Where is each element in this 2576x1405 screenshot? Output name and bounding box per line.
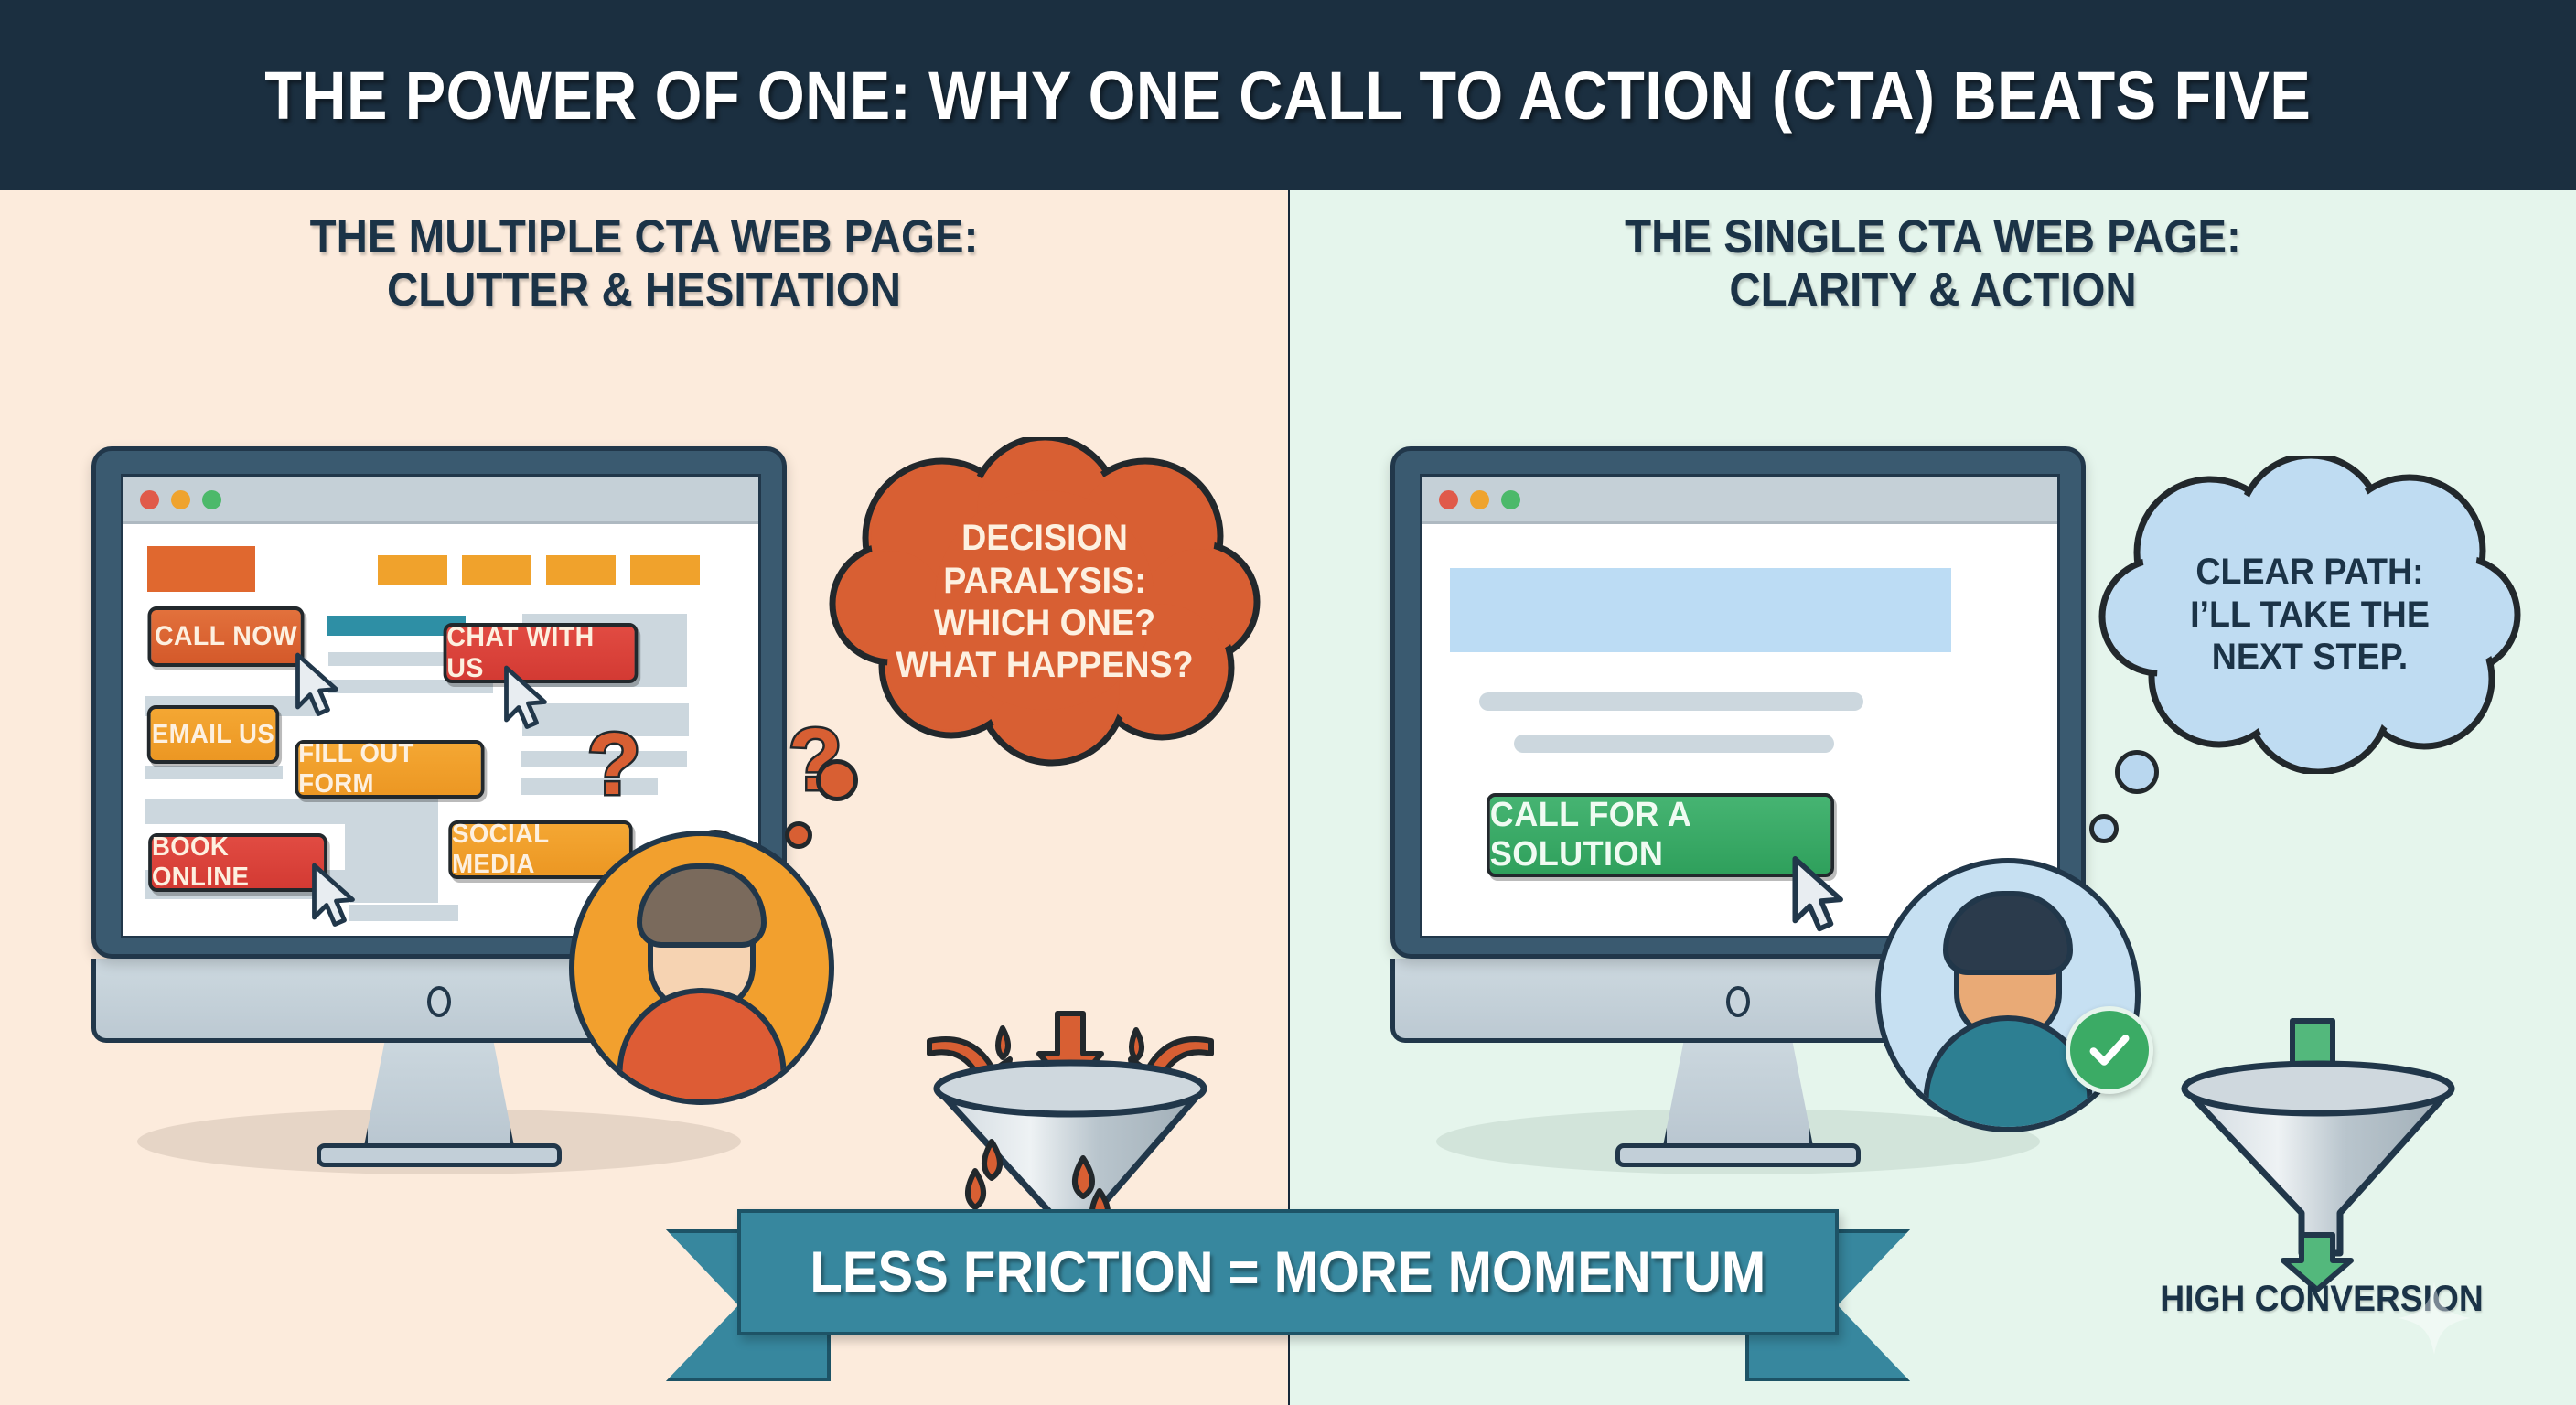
confused-user-avatar (569, 831, 834, 1105)
cta-call-for-a-solution-label: CALL FOR A SOLUTION (1490, 796, 1830, 874)
yellow-dot[interactable] (171, 490, 190, 509)
ribbon-text: LESS FRICTION = MORE MOMENTUM (810, 1239, 1766, 1305)
content-block-left (145, 799, 376, 824)
left-panel-heading: THE MULTIPLE CTA WEB PAGE: CLUTTER & HES… (45, 210, 1242, 316)
browser-traffic-lights (140, 490, 221, 509)
bottom-ribbon: LESS FRICTION = MORE MOMENTUM (0, 1200, 2576, 1405)
nav-item-2[interactable] (462, 555, 531, 585)
site-logo-block (147, 546, 255, 592)
cta-fill-out-form[interactable]: FILL OUT FORM (295, 740, 484, 799)
content-line-7 (350, 883, 438, 903)
content-line-1 (1479, 692, 1863, 711)
right-heading-line-1: THE SINGLE CTA WEB PAGE: (1335, 210, 2531, 263)
question-mark-icon-1: ? (587, 721, 641, 809)
check-badge (2066, 1006, 2153, 1094)
monitor-neck (1662, 1043, 1814, 1151)
left-thought-bubble: DECISION PARALYSIS: WHICH ONE? WHAT HAPP… (825, 437, 1264, 767)
cta-call-now[interactable]: CALL NOW (148, 606, 305, 667)
browser-chrome-bar (123, 477, 758, 524)
check-icon (2084, 1024, 2135, 1076)
cta-email-us-label: EMAIL US (152, 720, 274, 750)
hero-banner-block (1450, 568, 1951, 652)
avatar-background-circle (569, 831, 834, 1105)
monitor-neck (363, 1043, 515, 1151)
left-heading-line-1: THE MULTIPLE CTA WEB PAGE: (45, 210, 1242, 263)
thought-dot-small (785, 821, 812, 849)
right-thought-bubble: CLEAR PATH: I’LL TAKE THE NEXT STEP. (2095, 456, 2525, 774)
avatar-hair (1943, 891, 2073, 975)
nav-item-4[interactable] (630, 555, 700, 585)
yellow-dot[interactable] (1470, 490, 1489, 509)
avatar-hair (637, 863, 767, 948)
confident-user-avatar (1875, 858, 2141, 1132)
browser-chrome-bar (1422, 477, 2057, 524)
cta-book-online-label: BOOK ONLINE (152, 832, 324, 893)
monitor-foot (1615, 1143, 1861, 1167)
content-line-6 (145, 766, 283, 779)
content-line-2 (1514, 735, 1834, 753)
green-dot[interactable] (1501, 490, 1520, 509)
avatar-shoulders (1924, 1015, 2093, 1132)
bubble-line-3: NEXT STEP. (2212, 636, 2409, 678)
bubble-line-1: DECISION (961, 517, 1128, 559)
monitor-camera-dot (427, 986, 451, 1017)
red-dot[interactable] (1439, 490, 1458, 509)
bubble-line-3: WHICH ONE? (934, 602, 1155, 644)
right-bubble-text: CLEAR PATH: I’LL TAKE THE NEXT STEP. (2108, 456, 2512, 774)
right-panel-heading: THE SINGLE CTA WEB PAGE: CLARITY & ACTIO… (1335, 210, 2531, 316)
green-dot[interactable] (202, 490, 221, 509)
bubble-line-2: PARALYSIS: (943, 560, 1145, 602)
bubble-line-4: WHAT HAPPENS? (896, 644, 1193, 686)
nav-item-3[interactable] (546, 555, 616, 585)
avatar-shoulders (617, 988, 787, 1105)
content-line-8 (349, 905, 458, 921)
cta-book-online[interactable]: BOOK ONLINE (148, 833, 327, 892)
header-banner: THE POWER OF ONE: WHY ONE CALL TO ACTION… (0, 0, 2576, 190)
cta-call-for-a-solution[interactable]: CALL FOR A SOLUTION (1487, 793, 1834, 877)
monitor-camera-dot (1726, 986, 1750, 1017)
bubble-line-2: I’LL TAKE THE (2190, 594, 2430, 636)
page-title: THE POWER OF ONE: WHY ONE CALL TO ACTION… (264, 57, 2311, 134)
nav-item-1[interactable] (378, 555, 447, 585)
thought-dot-large (2115, 750, 2159, 794)
left-bubble-text: DECISION PARALYSIS: WHICH ONE? WHAT HAPP… (838, 437, 1250, 767)
ribbon-body: LESS FRICTION = MORE MOMENTUM (737, 1209, 1839, 1335)
left-heading-line-2: CLUTTER & HESITATION (45, 263, 1242, 316)
cta-email-us[interactable]: EMAIL US (147, 705, 279, 764)
bubble-line-1: CLEAR PATH: (2195, 551, 2423, 593)
monitor-foot (317, 1143, 562, 1167)
cta-fill-out-form-label: FILL OUT FORM (298, 739, 481, 799)
thought-dot-large (816, 759, 858, 801)
red-dot[interactable] (140, 490, 159, 509)
right-heading-line-2: CLARITY & ACTION (1335, 263, 2531, 316)
cta-call-now-label: CALL NOW (155, 621, 297, 652)
browser-traffic-lights (1439, 490, 1520, 509)
thought-dot-small (2089, 814, 2119, 843)
